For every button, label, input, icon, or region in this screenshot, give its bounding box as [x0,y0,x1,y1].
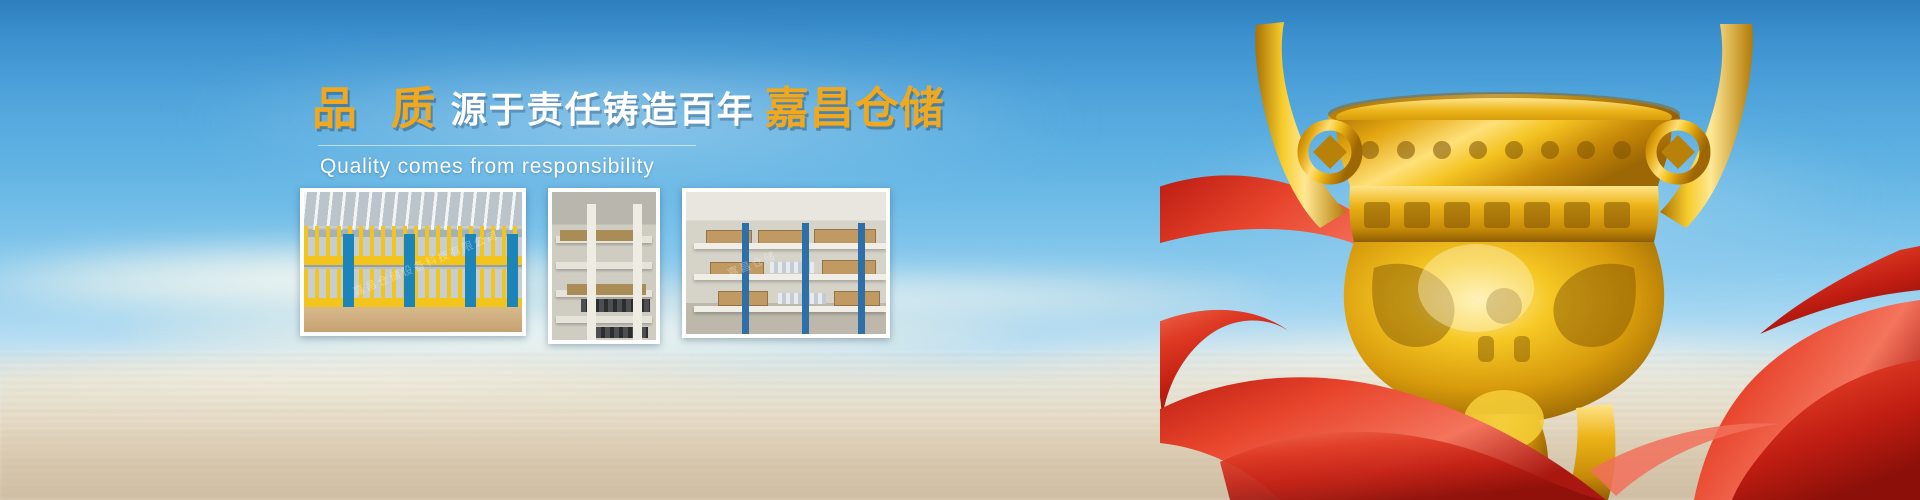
carton [814,229,876,244]
cloud-haze-upper-right [1180,120,1880,270]
carton [834,291,880,306]
headline-brand: 嘉昌仓储 [765,87,945,131]
photo-cantilever-racking[interactable] [548,188,660,344]
rack-mast [633,204,642,340]
photo-mezzanine-racking[interactable]: 嘉昌仓储设备科技有限公司 [300,188,526,336]
photo-2-image [552,192,656,340]
ground-gradient [0,422,1920,500]
headline: 品 质 源于责任铸造百年 嘉昌仓储 [312,86,912,131]
headline-block: 品 质 源于责任铸造百年 嘉昌仓储 Quality comes from res… [312,86,912,179]
palletised-goods [304,307,522,332]
warehouse-ceiling [304,192,522,230]
headline-emphasis: 品 质 [312,86,445,131]
headline-divider [318,145,696,146]
hero-banner: 品 质 源于责任铸造百年 嘉昌仓储 Quality comes from res… [0,0,1920,500]
subtitle: Quality comes from responsibility [320,155,912,179]
shelf-post [802,223,809,334]
headline-middle: 源于责任铸造百年 [451,93,755,129]
photo-carton-shelving[interactable]: 嘉昌仓储 [682,188,890,338]
carton [822,260,876,275]
stored-timber [560,230,635,241]
shelf-post [858,223,865,334]
shelf-post [742,223,749,334]
photo-3-image [686,192,886,334]
rack-mast [587,204,596,340]
photo-strip: 嘉昌仓储设备科技有限公司 [300,188,890,344]
